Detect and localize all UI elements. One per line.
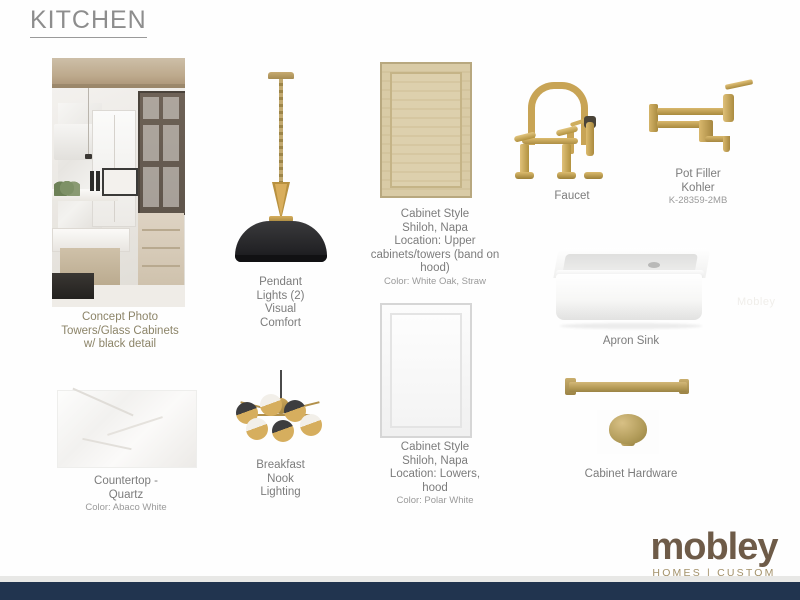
chandelier-globe — [246, 418, 268, 440]
cabinet-door-inner-panel — [390, 72, 462, 188]
footer-bar — [0, 582, 800, 600]
photo-glass-pane — [143, 167, 159, 207]
cabinet-hardware-image[interactable] — [551, 372, 711, 454]
pendant-socket-inner — [275, 184, 287, 217]
apron-sink-image[interactable] — [556, 248, 708, 326]
logo-wordmark: mobley — [639, 528, 789, 566]
sink-drain — [648, 262, 660, 268]
concept-photo-image[interactable] — [52, 58, 185, 307]
upper-cabinet-caption: Cabinet Style Shiloh, Napa Location: Upp… — [355, 208, 515, 288]
lower-cabinet-caption-line1: Cabinet Style — [355, 441, 515, 455]
photo-plant — [54, 176, 80, 196]
photo-framed-art — [102, 168, 138, 196]
countertop-caption: Countertop - Quartz Color: Abaco White — [56, 475, 196, 514]
sink-apron-front — [556, 274, 702, 320]
pot-filler-caption: Pot Filler Kohler K-28359-2MB — [643, 168, 753, 207]
pot-filler-joint — [723, 94, 734, 122]
photo-glass-cabinet — [138, 91, 185, 215]
pendant-light-image[interactable] — [233, 72, 328, 262]
cabinet-hardware-caption: Cabinet Hardware — [561, 468, 701, 482]
lower-cabinet-door-sample[interactable] — [380, 303, 472, 438]
upper-cabinet-caption-line4: cabinets/towers (band on — [355, 249, 515, 263]
pot-filler-spout-tip — [723, 136, 730, 152]
lower-cabinet-caption-line2: Shiloh, Napa — [355, 455, 515, 469]
photo-glass-pane — [143, 97, 159, 119]
watermark: Mobley — [737, 296, 775, 308]
pendant-chain — [279, 79, 283, 183]
photo-black-detail — [52, 273, 94, 299]
pendant-light-caption: Pendant Lights (2) Visual Comfort — [228, 276, 333, 330]
photo-glass-pane — [163, 97, 179, 119]
lower-cabinet-caption-line4: hood — [355, 482, 515, 496]
breakfast-nook-chandelier-image[interactable] — [228, 370, 333, 448]
chandelier-globe — [272, 420, 294, 442]
pot-filler-handle — [725, 79, 753, 90]
apron-sink-caption-line1: Apron Sink — [576, 335, 686, 349]
sink-shadow — [560, 323, 702, 329]
upper-cabinet-color: Color: White Oak, Straw — [355, 276, 515, 288]
photo-lower-drawers — [138, 213, 184, 285]
concept-photo-caption: Concept Photo Towers/Glass Cabinets w/ b… — [35, 311, 205, 352]
quartz-vein — [107, 416, 163, 436]
concept-photo-caption-line2: Towers/Glass Cabinets — [35, 325, 205, 339]
faucet-caption-line1: Faucet — [522, 190, 622, 204]
photo-pendant-shade — [85, 154, 92, 159]
faucet-post-left — [520, 144, 529, 174]
pot-filler-caption-line2: Kohler — [643, 182, 753, 196]
lower-cabinet-caption-line3: Location: Lowers, — [355, 468, 515, 482]
photo-glass-pane — [163, 125, 179, 161]
page-title: KITCHEN — [30, 6, 147, 38]
design-board: KITCHEN Concept Photo Towers/G — [0, 0, 800, 600]
quartz-vein — [82, 438, 131, 450]
pendant-caption-line4: Comfort — [228, 317, 333, 331]
breakfast-nook-caption: Breakfast Nook Lighting — [228, 459, 333, 500]
countertop-sample-image[interactable] — [57, 390, 197, 468]
chandelier-globe — [300, 414, 322, 436]
lower-cabinet-color: Color: Polar White — [355, 495, 515, 507]
pendant-caption-line3: Visual — [228, 303, 333, 317]
cabinet-hardware-caption-line1: Cabinet Hardware — [561, 468, 701, 482]
pot-filler-image[interactable] — [645, 78, 755, 168]
faucet-caption: Faucet — [522, 190, 622, 204]
countertop-caption-line1: Countertop - — [56, 475, 196, 489]
faucet-post-right — [562, 144, 571, 174]
pendant-caption-line2: Lights (2) — [228, 290, 333, 304]
breakfast-nook-caption-line1: Breakfast — [228, 459, 333, 473]
upper-cabinet-caption-line5: hood) — [355, 262, 515, 276]
upper-cabinet-caption-line1: Cabinet Style — [355, 208, 515, 222]
upper-cabinet-caption-line3: Location: Upper — [355, 235, 515, 249]
pot-filler-model-number: K-28359-2MB — [643, 195, 753, 207]
cabinet-door-inner-panel — [390, 313, 462, 428]
quartz-vein — [72, 388, 133, 417]
lower-cabinet-caption: Cabinet Style Shiloh, Napa Location: Low… — [355, 441, 515, 507]
pot-filler-upper-arm — [657, 108, 725, 115]
hardware-knob — [609, 414, 647, 444]
upper-cabinet-door-sample[interactable] — [380, 62, 472, 198]
photo-bottles — [90, 171, 100, 191]
concept-photo-caption-line3: w/ black detail — [35, 338, 205, 352]
countertop-color: Color: Abaco White — [56, 502, 196, 514]
hardware-pull-bar — [569, 382, 687, 392]
pendant-canopy — [268, 72, 294, 79]
faucet-base-right — [557, 172, 576, 179]
concept-photo-caption-line1: Concept Photo — [35, 311, 205, 325]
photo-glass-pane — [143, 125, 159, 161]
chandelier-rod — [280, 370, 282, 400]
breakfast-nook-caption-line3: Lighting — [228, 486, 333, 500]
pendant-dome-lip — [235, 255, 327, 262]
apron-sink-caption: Apron Sink — [576, 335, 686, 349]
faucet-image[interactable] — [508, 78, 618, 183]
photo-glass-pane — [163, 167, 179, 207]
upper-cabinet-caption-line2: Shiloh, Napa — [355, 222, 515, 236]
faucet-base-left — [515, 172, 534, 179]
faucet-sprayer-base — [584, 172, 603, 179]
pendant-caption-line1: Pendant — [228, 276, 333, 290]
chandelier-globe — [260, 394, 282, 416]
breakfast-nook-caption-line2: Nook — [228, 473, 333, 487]
faucet-sprayer-body — [586, 122, 594, 156]
pot-filler-caption-line1: Pot Filler — [643, 168, 753, 182]
pendant-black-dome — [235, 221, 327, 262]
mobley-logo: mobley HOMES | CUSTOM — [639, 528, 789, 579]
photo-pendant-wire — [88, 88, 89, 154]
countertop-caption-line2: Quartz — [56, 489, 196, 503]
